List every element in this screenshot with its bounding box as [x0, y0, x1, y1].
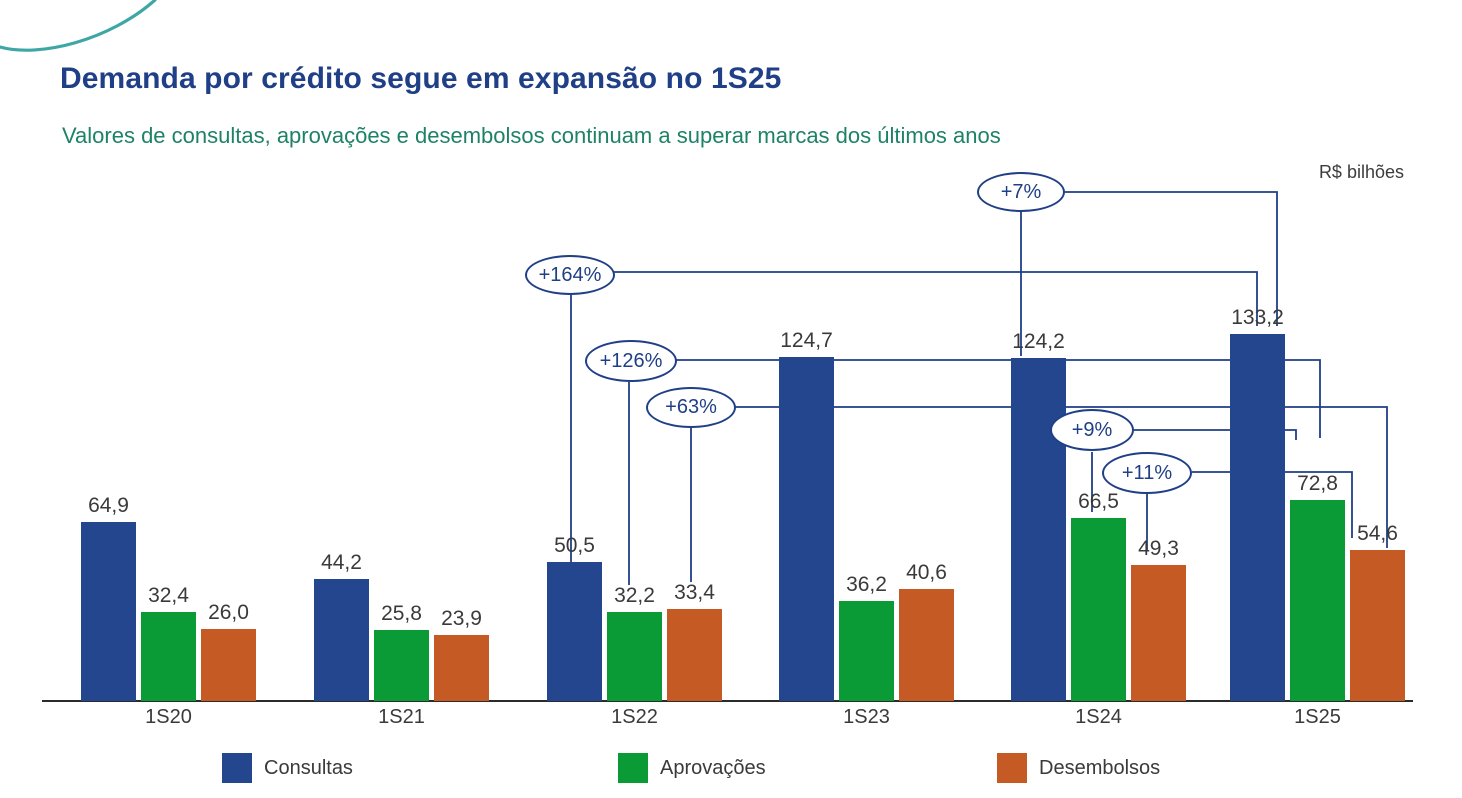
bar-1s21-desembolsos[interactable]: [434, 635, 489, 701]
bar-1s22-aprovacoes[interactable]: [607, 612, 662, 701]
category-label-1s22: 1S22: [547, 706, 722, 729]
annotation-pct-164[interactable]: +164%: [525, 255, 615, 295]
legend-swatch-aprovacoes: [618, 753, 648, 783]
value-label-1s22-consultas: 50,5: [535, 534, 614, 558]
bar-1s24-consultas[interactable]: [1011, 358, 1066, 701]
category-label-1s21: 1S21: [314, 706, 489, 729]
value-label-1s20-consultas: 64,9: [69, 494, 148, 518]
bar-1s25-consultas[interactable]: [1230, 334, 1285, 701]
category-label-1s23: 1S23: [779, 706, 954, 729]
legend-item-consultas[interactable]: Consultas: [222, 753, 353, 783]
annotation-pct-7[interactable]: +7%: [977, 172, 1065, 212]
value-label-1s25-aprovacoes: 72,8: [1278, 472, 1357, 496]
legend-item-desembolsos[interactable]: Desembolsos: [997, 753, 1160, 783]
annotation-pct-63[interactable]: +63%: [646, 387, 736, 428]
value-label-1s20-desembolsos: 26,0: [189, 601, 268, 625]
bar-1s20-desembolsos[interactable]: [201, 629, 256, 701]
legend-swatch-consultas: [222, 753, 252, 783]
bar-1s25-aprovacoes[interactable]: [1290, 500, 1345, 701]
category-label-1s24: 1S24: [1011, 706, 1186, 729]
value-label-1s23-desembolsos: 40,6: [887, 561, 966, 585]
bar-1s20-consultas[interactable]: [81, 522, 136, 701]
value-label-1s25-consultas: 133,2: [1218, 306, 1297, 330]
bar-1s21-aprovacoes[interactable]: [374, 630, 429, 701]
value-label-1s24-aprovacoes: 66,5: [1059, 490, 1138, 514]
annotation-pct-11[interactable]: +11%: [1102, 452, 1192, 494]
annotation-pct-9[interactable]: +9%: [1050, 409, 1134, 451]
value-label-1s24-desembolsos: 49,3: [1119, 537, 1198, 561]
value-label-1s21-consultas: 44,2: [302, 551, 381, 575]
bar-1s23-aprovacoes[interactable]: [839, 601, 894, 701]
bar-1s21-consultas[interactable]: [314, 579, 369, 701]
annotation-pct-126[interactable]: +126%: [585, 340, 677, 382]
bar-1s23-consultas[interactable]: [779, 357, 834, 701]
bar-1s24-aprovacoes[interactable]: [1071, 518, 1126, 701]
bar-1s22-consultas[interactable]: [547, 562, 602, 701]
value-label-1s21-desembolsos: 23,9: [422, 607, 501, 631]
bar-1s25-desembolsos[interactable]: [1350, 550, 1405, 701]
bar-1s24-desembolsos[interactable]: [1131, 565, 1186, 701]
bar-1s23-desembolsos[interactable]: [899, 589, 954, 701]
legend-label-aprovacoes: Aprovações: [660, 757, 766, 780]
value-label-1s23-consultas: 124,7: [767, 329, 846, 353]
bar-1s22-desembolsos[interactable]: [667, 609, 722, 701]
category-label-1s20: 1S20: [81, 706, 256, 729]
legend-label-consultas: Consultas: [264, 757, 353, 780]
value-label-1s22-desembolsos: 33,4: [655, 581, 734, 605]
slide-canvas: Demanda por crédito segue em expansão no…: [0, 0, 1462, 798]
category-label-1s25: 1S25: [1230, 706, 1405, 729]
legend-swatch-desembolsos: [997, 753, 1027, 783]
legend-item-aprovacoes[interactable]: Aprovações: [618, 753, 766, 783]
bar-1s20-aprovacoes[interactable]: [141, 612, 196, 701]
value-label-1s25-desembolsos: 54,6: [1338, 522, 1417, 546]
legend-label-desembolsos: Desembolsos: [1039, 757, 1160, 780]
value-label-1s24-consultas: 124,2: [999, 330, 1078, 354]
